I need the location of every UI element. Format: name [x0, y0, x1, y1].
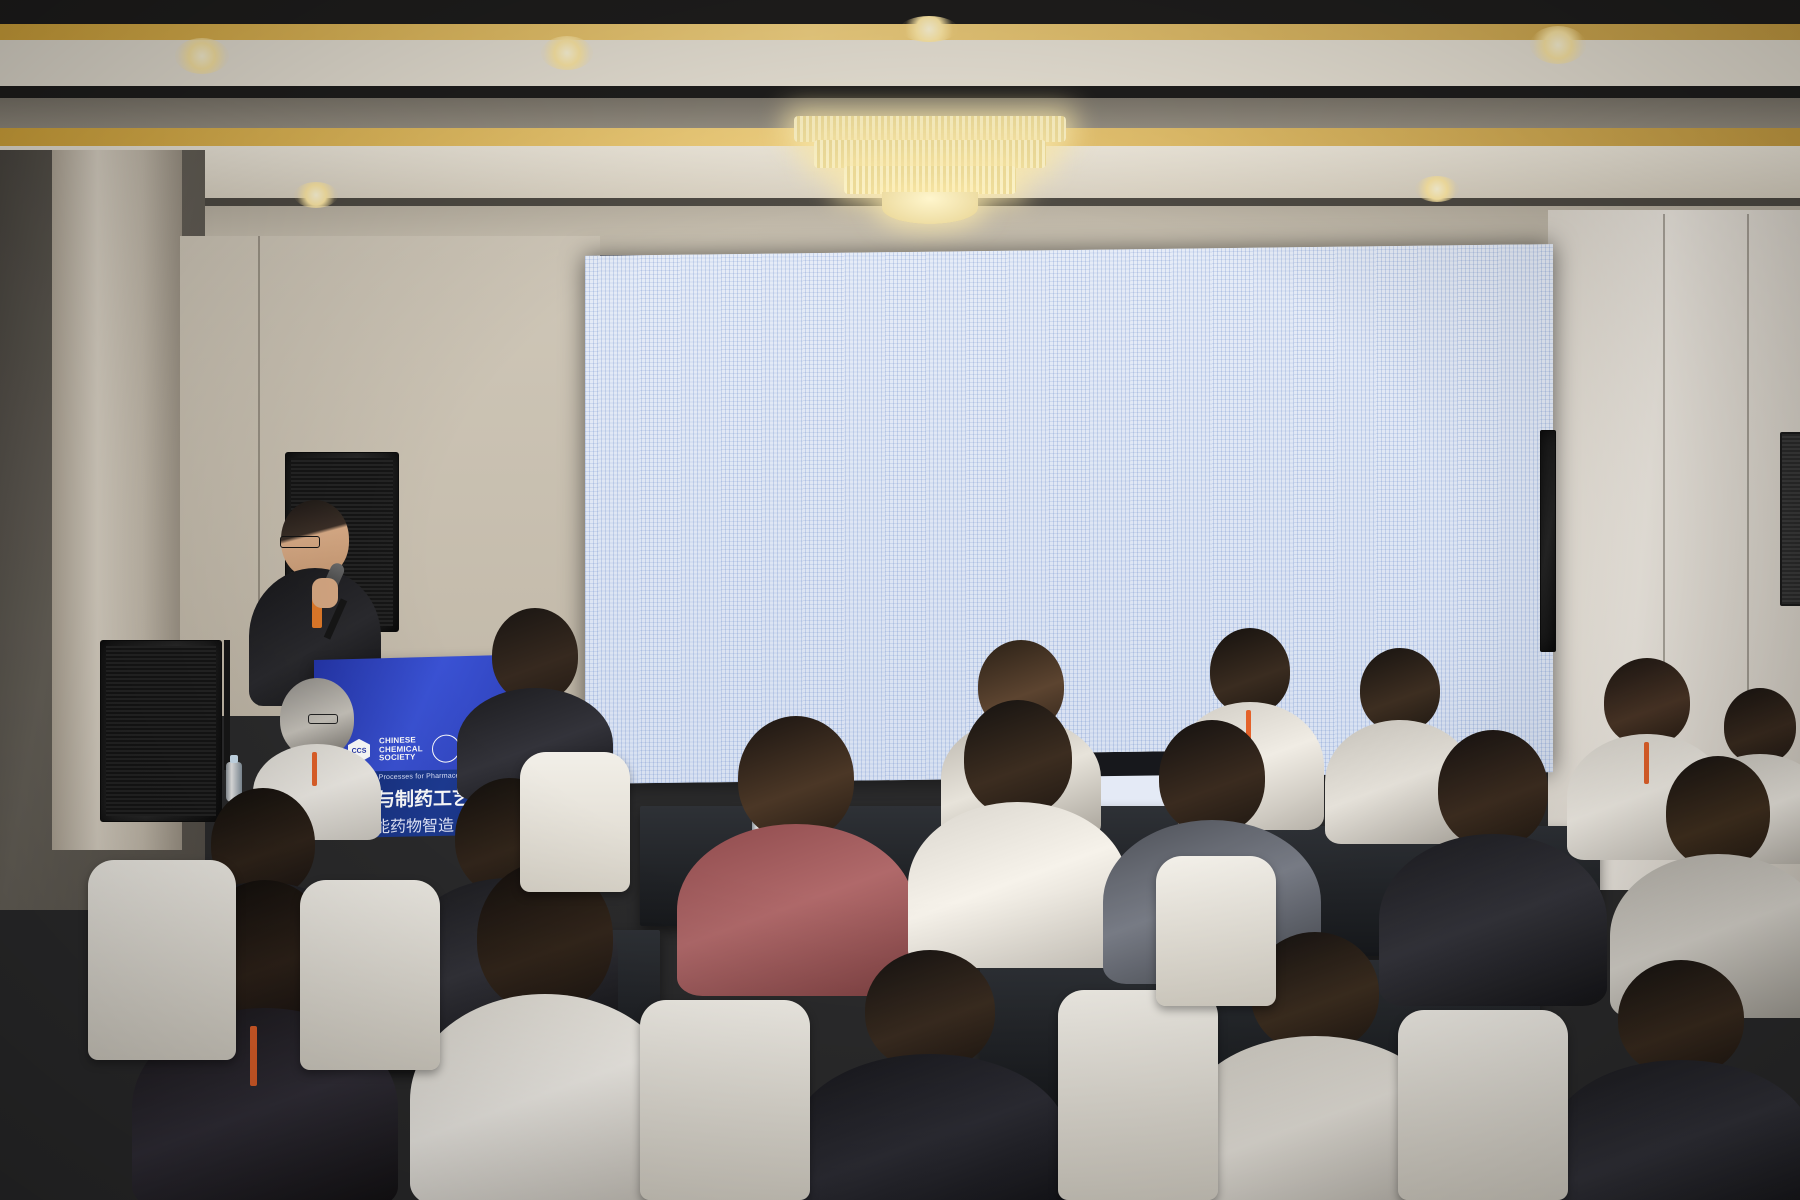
igal-badge-text-right: iGAL 2.0 [1291, 557, 1333, 570]
impact-title1-left: Sustainable innovation [871, 575, 972, 587]
cv-label-right: CV [1147, 673, 1159, 683]
cv-value-left: 40% [690, 678, 707, 688]
svg-text:Status: Status [665, 502, 682, 548]
chair [1058, 990, 1218, 1200]
yd-row-left: YD 42% [673, 690, 707, 700]
presenter-hand [312, 578, 338, 608]
cef-row-left: cEF 146.87 [655, 646, 753, 672]
downlight-icon [175, 38, 229, 74]
calc-cv-bar-left: 0% [887, 661, 905, 670]
slide-accent-bar [585, 256, 597, 330]
calc-cv-label-left: CV [871, 650, 883, 660]
audience-member [918, 700, 1118, 960]
svg-text:70: 70 [1321, 405, 1328, 411]
rpg-value-right: 390% [1266, 464, 1358, 501]
igal-row-left: iGAL 253 kg wasteper kg API [647, 614, 763, 642]
acs-mark: ACS [1108, 312, 1133, 326]
calc-yd-value-left: 0% [893, 687, 905, 696]
acs-mark: ACS [630, 318, 655, 332]
svg-text:40: 40 [1283, 414, 1290, 420]
phase-label-right: Phase [1135, 592, 1159, 602]
calc-cv-value-left: 0% [893, 661, 905, 670]
cef-label-left: cEF [655, 660, 675, 672]
iq-mark-icon: IQ [919, 316, 945, 342]
downlight-icon [900, 16, 958, 42]
acs-logo: ACS Green Chemistry Institute Pharmaceut… [601, 318, 766, 344]
calc-label-right: calc contribution from [1343, 634, 1424, 645]
acs-title: Green Chemistry Institute [658, 320, 766, 332]
phase-row-left: Phase Commercial [661, 597, 738, 608]
yd-value-right: 77% [1164, 685, 1181, 695]
cef-label-right: cEF [1131, 651, 1154, 666]
iq-line1: INNOVATION ＆ QUALITY [1428, 313, 1545, 327]
iq-logo: IQ INTERNATIONAL CONSORTIUM for INNOVATI… [1397, 308, 1545, 336]
svg-text:PCTL: PCTL [1247, 440, 1263, 446]
iq-logo: IQ INTERNATIONAL CONSORTIUM for INNOVATI… [919, 314, 1067, 342]
rpg-gauge-left: RPG RPG RPG PCTL 40 70 90 [743, 366, 925, 464]
slide-title: 2. Process Optimization – Example 1 [621, 263, 1136, 305]
calc-yd-label-left: YD [871, 676, 883, 686]
calc-yd-bar-left: 0% [887, 687, 905, 696]
svg-text:RPG: RPG [763, 379, 777, 392]
screenshot-root: 2. Process Optimization – Example 1 苑东生物 [0, 0, 1800, 1200]
iq-line2: in PHARMACEUTICAL DEVELOPMENT [1428, 326, 1545, 332]
calc-label-left: calc contribution from [871, 639, 952, 650]
igal-label-right: iGAL [1121, 624, 1145, 636]
svg-text:Innovation: Innovation [1467, 483, 1484, 559]
downlight-icon [1530, 26, 1586, 64]
downlight-icon [294, 182, 338, 208]
igal-badge-text-left: iGAL 2.0 [813, 563, 855, 576]
campaign-value-right: 2 [1173, 579, 1178, 589]
acs-diamond-icon [601, 319, 625, 343]
pa-speaker-right [1540, 430, 1556, 652]
igal-label-left: iGAL [647, 630, 671, 642]
chair [1398, 1010, 1568, 1200]
downlight-icon [1415, 176, 1459, 202]
obs-row-left: obs ΔRPG 0% [871, 613, 970, 641]
iq-line2: in PHARMACEUTICAL DEVELOPMENT [950, 332, 1067, 338]
cv-value-right: 38% [1164, 673, 1181, 683]
svg-text:RPG: RPG [746, 400, 758, 415]
svg-text:40: 40 [805, 420, 812, 426]
svg-text:70: 70 [843, 417, 850, 423]
company-logo: 苑东生物 EASTON BIOPHARMACEUTICALS [1341, 252, 1539, 300]
rpg-gauge-right: RPG RPG RPG PCTL 40 70 90 [1221, 360, 1403, 458]
university-seal-icon [432, 734, 460, 763]
phase-row-right: Phase Commercial [1135, 591, 1212, 602]
company-name-en: EASTON BIOPHARMACEUTICALS [1395, 285, 1539, 294]
snowflake-icon [1341, 254, 1387, 301]
acs-logo: ACS Green Chemistry Institute Pharmaceut… [1079, 312, 1244, 338]
acs-subtitle: Pharmaceutical Roundtable [1108, 325, 1244, 333]
impact-title2-left: Impact [915, 587, 960, 605]
audience-member [420, 862, 670, 1200]
svg-text:PCTL: PCTL [773, 449, 789, 455]
cv-row-left: CV 40% [673, 678, 707, 688]
svg-text:RPG: RPG [1276, 363, 1290, 372]
campaign-label-right: Campaign [1127, 579, 1166, 589]
glasses-icon [280, 536, 320, 548]
impact-title2-right: Impact [1389, 582, 1434, 600]
cv-label-left: CV [673, 679, 685, 689]
phase-label-left: Phase [661, 598, 685, 608]
campaign-row-left: Campaign 1 [653, 584, 704, 595]
chair [88, 860, 236, 1060]
yd-row-right: YD 77% [1147, 685, 1181, 695]
downlight-icon [541, 36, 593, 70]
iq-mark-icon: IQ [1397, 310, 1423, 336]
iq-line1: INNOVATION ＆ QUALITY [950, 319, 1067, 333]
obs-label-left: obs ΔRPG [871, 626, 923, 639]
svg-text:90: 90 [1345, 405, 1352, 411]
chair [640, 1000, 810, 1200]
acs-title: Green Chemistry Institute [1136, 314, 1244, 326]
phase-value-right: Commercial [1166, 591, 1211, 602]
igal-value-left: 253 [676, 614, 721, 642]
audience-member [800, 950, 1060, 1200]
ccs-name: CHINESE CHEMICAL SOCIETY [379, 736, 423, 764]
audience-member [686, 716, 906, 986]
obs-value-left: 0% [937, 613, 970, 640]
ceiling-edge [0, 0, 1800, 26]
chair [520, 752, 630, 892]
impact-title1-right: Sustainable innovation [1345, 569, 1446, 581]
company-name-cn: 苑东生物 [1395, 258, 1539, 284]
igal-figures-icon [791, 510, 877, 597]
svg-text:Innovation: Innovation [989, 489, 1006, 565]
yd-label-right: YD [1147, 685, 1159, 695]
obs-row-right: obs ΔRPG 218% [1343, 605, 1469, 636]
igal-figures-icon [1269, 505, 1355, 592]
svg-text:RPG: RPG [1224, 394, 1236, 409]
svg-text:90: 90 [869, 432, 876, 438]
ceiling-shadow-line [0, 86, 1800, 98]
chandelier [790, 116, 1070, 226]
campaign-value-left: 1 [699, 584, 704, 594]
cv-row-right: CV 38% [1147, 673, 1181, 683]
acs-diamond-icon [1079, 314, 1103, 338]
svg-text:RPG: RPG [1241, 373, 1255, 386]
igal-unit-left: kg wasteper kg API [727, 624, 764, 641]
wall-vent-icon [1780, 432, 1800, 606]
cef-value-left: 146.87 [677, 646, 753, 672]
phase-value-left: Commercial [692, 597, 737, 608]
campaign-label-left: Campaign [653, 585, 692, 595]
audience-member [1556, 960, 1800, 1200]
obs-label-right: obs ΔRPG [1343, 619, 1395, 632]
svg-text:RPG: RPG [798, 368, 812, 377]
chair [300, 880, 440, 1070]
chair [1156, 856, 1276, 1006]
svg-text:Status: Status [1143, 496, 1160, 542]
obs-value-right: 218% [1405, 605, 1469, 635]
campaign-row-right: Campaign 2 [1127, 579, 1178, 590]
acs-subtitle: Pharmaceutical Roundtable [630, 331, 766, 339]
yd-label-left: YD [673, 691, 685, 701]
mic-stand [224, 640, 230, 770]
yd-value-left: 42% [690, 690, 707, 700]
